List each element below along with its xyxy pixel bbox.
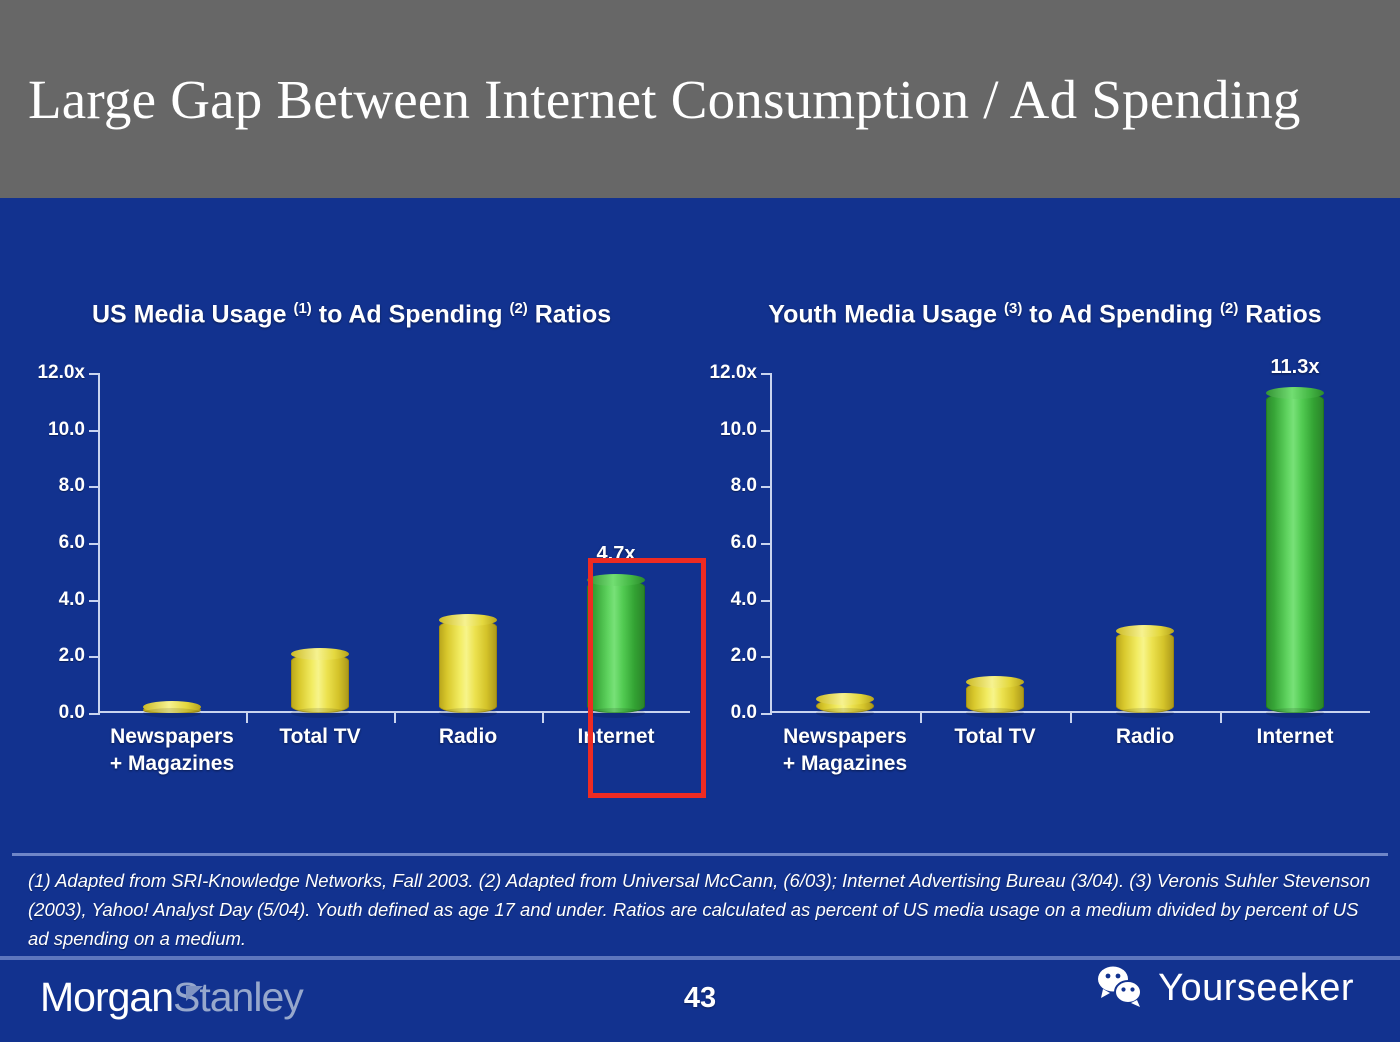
chart-title-part-c: Ratios — [1238, 300, 1321, 328]
y-tick-label: 10.0 — [720, 419, 757, 441]
chart-panel-us-media-usage: US Media Usage (1) to Ad Spending (2) Ra… — [20, 198, 710, 818]
slide-footer: MorganStanley 43 Yourseeker — [0, 960, 1400, 1042]
y-tick-label: 4.0 — [731, 589, 757, 611]
bar — [291, 654, 349, 714]
x-category-label-line: Total TV — [920, 723, 1070, 750]
x-category-label: Total TV — [920, 723, 1070, 777]
bar — [816, 699, 874, 713]
bar-slot: 11.3x — [1220, 373, 1370, 713]
x-category-label: Internet — [1220, 723, 1370, 777]
bar-value-label: 11.3x — [1271, 356, 1320, 379]
x-tick-mark — [394, 712, 396, 723]
y-tick-label: 0.0 — [731, 702, 757, 724]
bar-slot — [98, 373, 246, 713]
wechat-icon — [1094, 965, 1146, 1012]
slide-body: US Media Usage (1) to Ad Spending (2) Ra… — [0, 198, 1400, 1042]
footnote-text: (1) Adapted from SRI-Knowledge Networks,… — [28, 866, 1372, 953]
y-tick-label: 4.0 — [59, 589, 85, 611]
x-tick-mark — [1220, 712, 1222, 723]
x-category-label: Radio — [394, 723, 542, 777]
bar — [966, 682, 1024, 713]
chart-title-footnote-ref-3: (3) — [1004, 300, 1022, 317]
y-tick-label: 6.0 — [59, 532, 85, 554]
x-category-label: Total TV — [246, 723, 394, 777]
y-tick-mark — [89, 713, 100, 715]
chart-title-part-b: to Ad Spending — [1022, 300, 1220, 328]
bar — [439, 620, 497, 714]
chart-title-part-a: Youth Media Usage — [768, 300, 1004, 328]
y-tick-label: 0.0 — [59, 702, 85, 724]
y-tick-label: 6.0 — [731, 532, 757, 554]
chart-title-footnote-ref-1: (1) — [293, 300, 311, 317]
x-axis-category-labels-youth: Newspapers+ MagazinesTotal TVRadioIntern… — [770, 723, 1370, 777]
slide-header-band: Large Gap Between Internet Consumption /… — [0, 0, 1400, 198]
bar-slot — [920, 373, 1070, 713]
x-category-label-line: Radio — [1070, 723, 1220, 750]
bar-group-youth: 11.3x — [770, 373, 1370, 713]
x-category-label-line: Total TV — [246, 723, 394, 750]
bar — [143, 707, 201, 713]
x-category-label-line: Internet — [542, 723, 690, 750]
bar-highlighted — [1266, 393, 1324, 713]
chart-title-part-a: US Media Usage — [92, 300, 293, 328]
plot-area-youth: 0.02.04.06.08.010.012.0x 11.3x Newspaper… — [770, 373, 1370, 718]
watermark-label: Yourseeker — [1158, 967, 1354, 1010]
x-category-label: Newspapers+ Magazines — [98, 723, 246, 777]
y-tick-mark — [761, 713, 772, 715]
chart-title-footnote-ref-2: (2) — [1220, 300, 1238, 317]
chart-title-youth: Youth Media Usage (3) to Ad Spending (2)… — [700, 290, 1390, 333]
y-tick-label: 8.0 — [731, 475, 757, 497]
bar-slot — [1070, 373, 1220, 713]
x-category-label: Internet — [542, 723, 690, 777]
y-tick-label: 10.0 — [48, 419, 85, 441]
y-tick-label: 2.0 — [731, 645, 757, 667]
x-category-label-line: Newspapers — [770, 723, 920, 750]
y-tick-label: 8.0 — [59, 475, 85, 497]
chart-panel-youth-media-usage: Youth Media Usage (3) to Ad Spending (2)… — [700, 198, 1390, 818]
bar — [1116, 631, 1174, 713]
bar-slot — [246, 373, 394, 713]
chart-title-footnote-ref-2: (2) — [509, 300, 527, 317]
x-category-label-line: Newspapers — [98, 723, 246, 750]
page-title: Large Gap Between Internet Consumption /… — [0, 68, 1301, 131]
x-category-label-line: Radio — [394, 723, 542, 750]
chart-title-part-c: Ratios — [528, 300, 611, 328]
bar-slot — [394, 373, 542, 713]
y-tick-label: 12.0x — [709, 362, 757, 384]
x-tick-mark — [542, 712, 544, 723]
bar-slot — [770, 373, 920, 713]
chart-title-part-b: to Ad Spending — [312, 300, 510, 328]
x-category-label-line: Internet — [1220, 723, 1370, 750]
x-tick-mark — [920, 712, 922, 723]
bar-slot: 4.7x — [542, 373, 690, 713]
x-category-label-line: + Magazines — [98, 750, 246, 777]
bar-highlighted — [587, 580, 645, 713]
bar-value-label: 4.7x — [597, 543, 636, 566]
plot-area-us: 0.02.04.06.08.010.012.0x 4.7x Newspapers… — [98, 373, 690, 718]
y-tick-label: 12.0x — [37, 362, 85, 384]
footnote-divider — [12, 853, 1388, 856]
x-category-label: Newspapers+ Magazines — [770, 723, 920, 777]
x-tick-mark — [1070, 712, 1072, 723]
x-category-label: Radio — [1070, 723, 1220, 777]
x-axis-category-labels-us: Newspapers+ MagazinesTotal TVRadioIntern… — [98, 723, 690, 777]
y-tick-label: 2.0 — [59, 645, 85, 667]
chart-title-us: US Media Usage (1) to Ad Spending (2) Ra… — [20, 290, 710, 333]
x-tick-mark — [246, 712, 248, 723]
x-category-label-line: + Magazines — [770, 750, 920, 777]
bar-group-us: 4.7x — [98, 373, 690, 713]
watermark: Yourseeker — [1094, 965, 1354, 1012]
